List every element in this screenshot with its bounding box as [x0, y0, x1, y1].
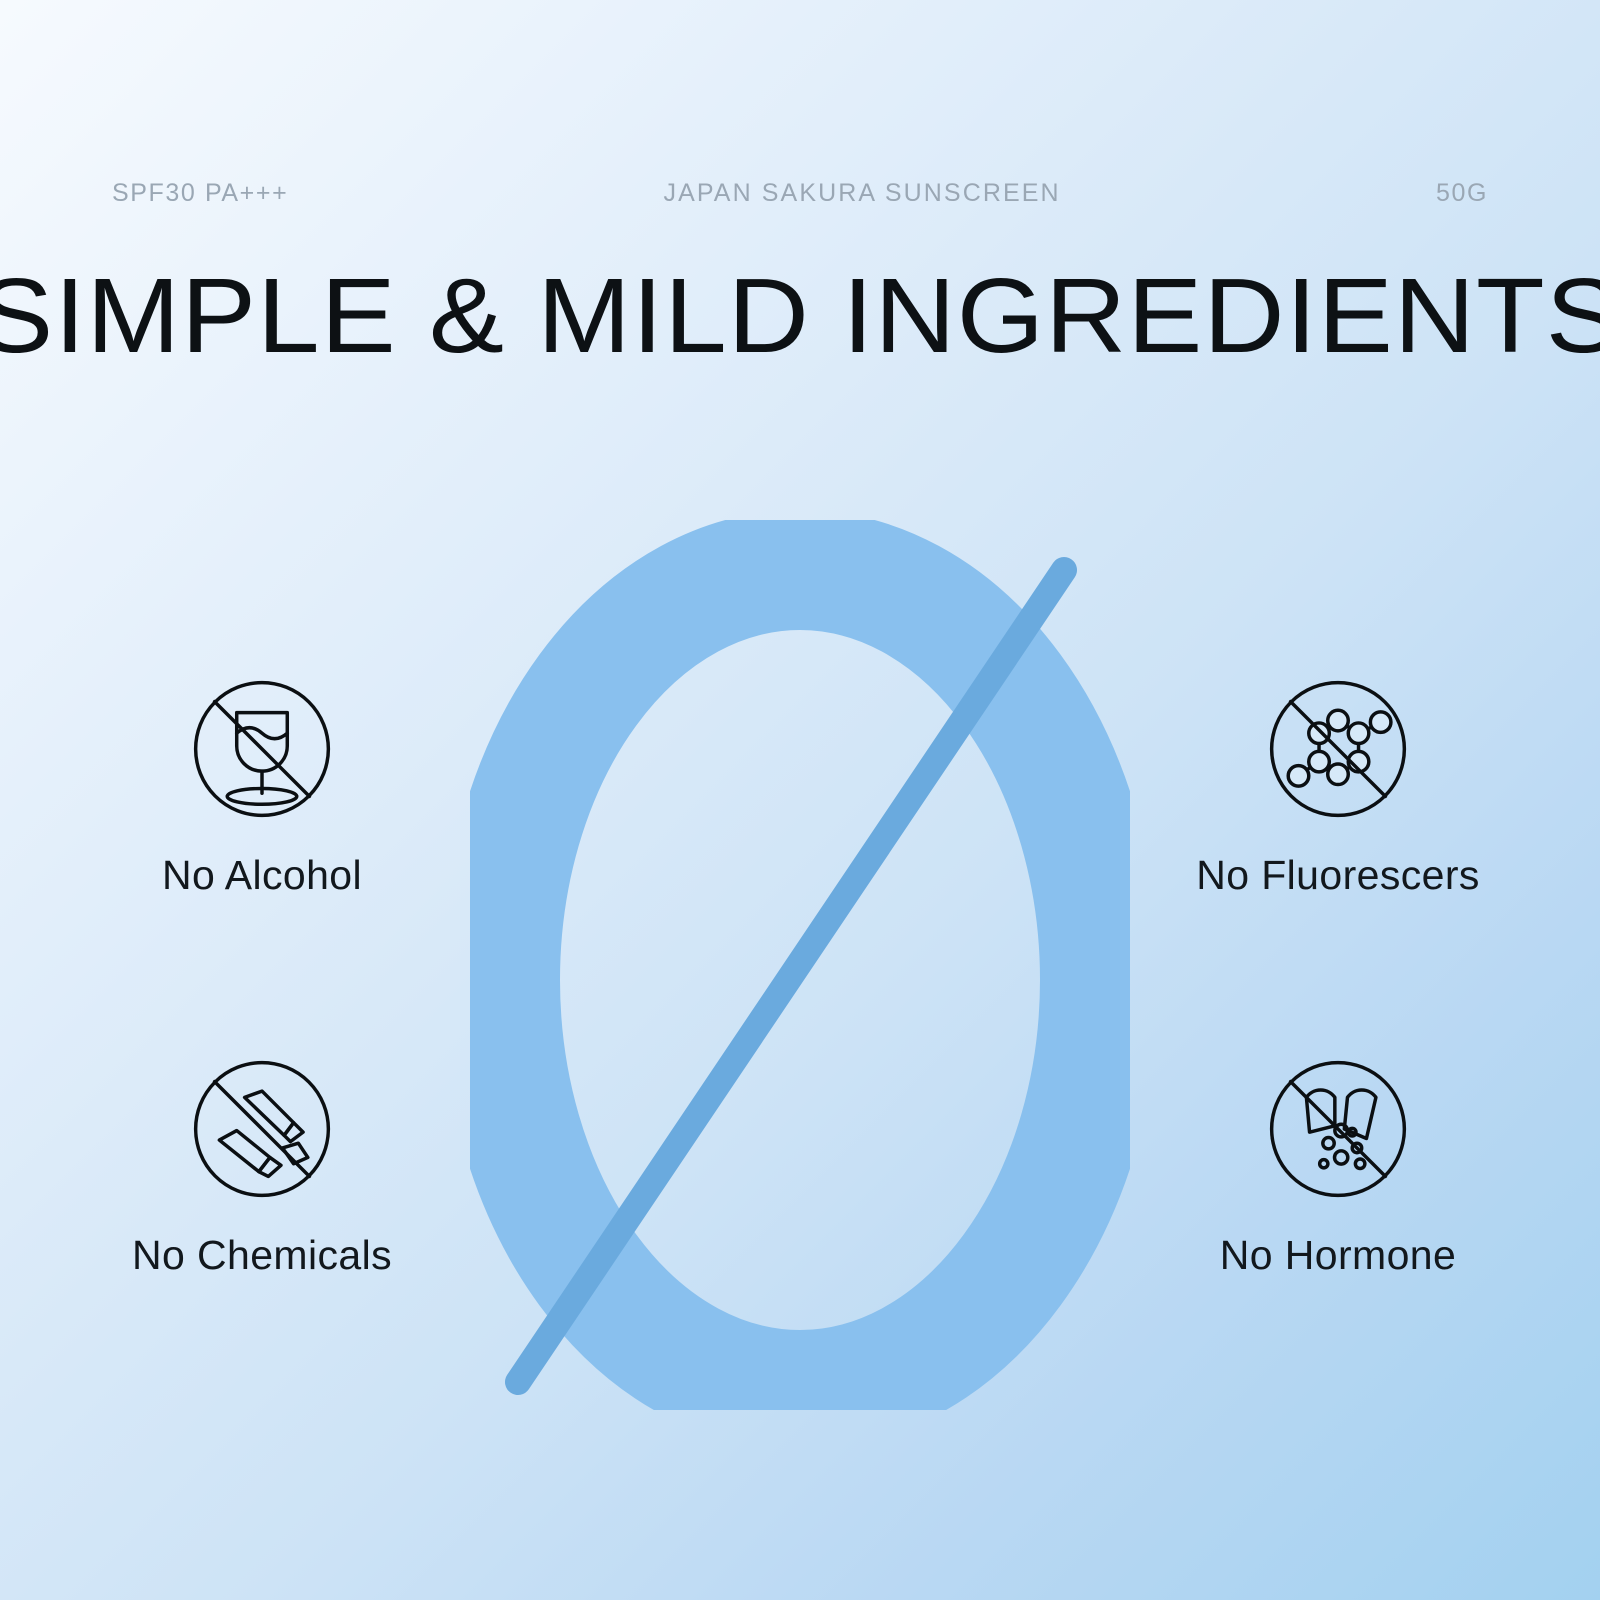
zero-ring: [500, 570, 1100, 1390]
spf-rating: SPF30 PA+++: [112, 179, 288, 208]
page-title: SIMPLE & MILD INGREDIENTS: [0, 262, 1600, 370]
feature-no-hormone[interactable]: No Hormone: [1138, 1050, 1538, 1279]
feature-no-chemicals[interactable]: No Chemicals: [62, 1050, 462, 1279]
capsule-granules-prohibited-icon: [1259, 1050, 1417, 1208]
meta-row: SPF30 PA+++ JAPAN SAKURA SUNSCREEN 50G: [112, 176, 1488, 210]
poster-canvas: SPF30 PA+++ JAPAN SAKURA SUNSCREEN 50G S…: [0, 0, 1600, 1600]
feature-label: No Alcohol: [162, 852, 362, 899]
feature-label: No Chemicals: [132, 1232, 392, 1279]
zero-slash-mark: [470, 520, 1130, 1410]
feature-no-alcohol[interactable]: No Alcohol: [62, 670, 462, 899]
zero-slash-line: [518, 570, 1064, 1382]
feature-label: No Fluorescers: [1196, 852, 1480, 899]
ingot-bars-prohibited-icon: [183, 1050, 341, 1208]
net-weight: 50G: [1436, 179, 1488, 208]
wine-glass-prohibited-icon: [183, 670, 341, 828]
molecule-prohibited-icon: [1259, 670, 1417, 828]
feature-no-fluorescers[interactable]: No Fluorescers: [1138, 670, 1538, 899]
feature-label: No Hormone: [1220, 1232, 1456, 1279]
product-line: JAPAN SAKURA SUNSCREEN: [288, 179, 1436, 208]
